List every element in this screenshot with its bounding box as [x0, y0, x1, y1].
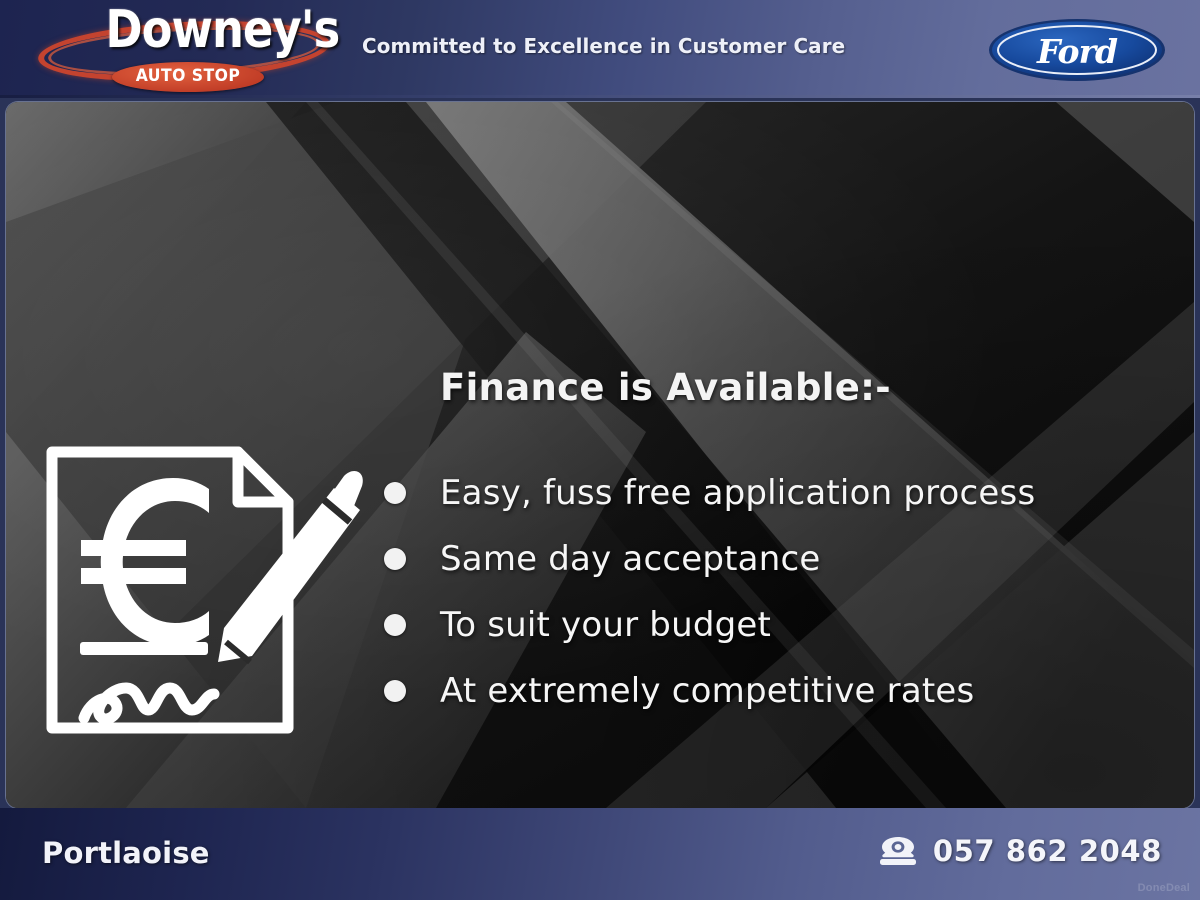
list-item-label: At extremely competitive rates	[440, 671, 974, 711]
contact-phone[interactable]: 057 862 2048	[879, 834, 1162, 868]
header-tagline: Committed to Excellence in Customer Care	[362, 34, 845, 58]
list-item: Easy, fuss free application process	[382, 460, 1182, 526]
phone-number-label: 057 862 2048	[933, 834, 1162, 868]
logo-brand-subtitle: AUTO STOP	[118, 67, 258, 86]
list-item: Same day acceptance	[382, 526, 1182, 592]
benefits-list: Easy, fuss free application process Same…	[382, 460, 1182, 724]
list-item-label: To suit your budget	[440, 605, 771, 645]
bullet-dot-icon	[384, 680, 406, 702]
advert-banner: Downey's AUTO STOP Committed to Excellen…	[0, 0, 1200, 900]
svg-text:Ford: Ford	[1036, 32, 1118, 71]
downeys-logo[interactable]: Downey's AUTO STOP	[38, 8, 330, 92]
header-bar: Downey's AUTO STOP Committed to Excellen…	[0, 0, 1200, 98]
bullet-dot-icon	[384, 482, 406, 504]
list-item: To suit your budget	[382, 592, 1182, 658]
list-item: At extremely competitive rates	[382, 658, 1182, 724]
main-content-panel: Finance is Available:- Easy, fuss free a…	[6, 102, 1194, 808]
ford-oval-icon[interactable]: Ford	[988, 18, 1166, 82]
telephone-icon	[879, 835, 917, 867]
finance-document-pen-icon	[38, 430, 368, 750]
donedeal-watermark: DoneDeal	[1138, 882, 1190, 894]
list-item-label: Same day acceptance	[440, 539, 820, 579]
page-title: Finance is Available:-	[440, 366, 891, 409]
dealer-location: Portlaoise	[42, 836, 210, 870]
bullet-dot-icon	[384, 614, 406, 636]
list-item-label: Easy, fuss free application process	[440, 473, 1035, 513]
logo-brand-name: Downey's	[106, 4, 321, 56]
bullet-dot-icon	[384, 548, 406, 570]
